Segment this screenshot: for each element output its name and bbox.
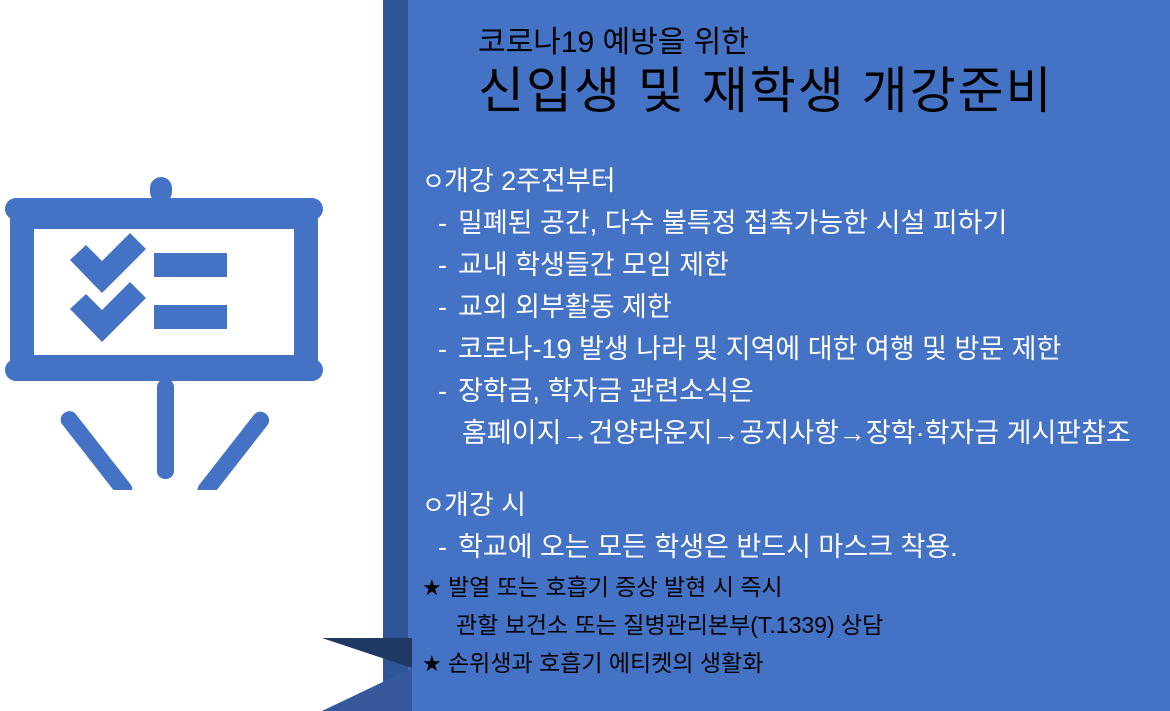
list-item-label: 학교에 오는 모든 학생은 반드시 마스크 착용. bbox=[458, 532, 958, 562]
body-content: ㅇ개강 2주전부터 -밀폐된 공간, 다수 불특정 접촉가능한 시설 피하기 -… bbox=[416, 160, 1170, 682]
list-item: -학교에 오는 모든 학생은 반드시 마스크 착용. bbox=[416, 526, 1170, 568]
dash-bullet-icon: - bbox=[438, 526, 458, 568]
left-illustration-pane bbox=[0, 0, 383, 711]
section-heading: ㅇ개강 2주전부터 bbox=[416, 160, 1170, 202]
list-item: -교외 외부활동 제한 bbox=[416, 286, 1170, 328]
slide-canvas: 코로나19 예방을 위한 신입생 및 재학생 개강준비 ㅇ개강 2주전부터 -밀… bbox=[0, 0, 1170, 711]
dash-bullet-icon: - bbox=[438, 286, 458, 328]
list-item-label: 장학금, 학자금 관련소식은 bbox=[458, 376, 754, 406]
note-item: ★손위생과 호흡기 에티켓의 생활화 bbox=[416, 644, 1170, 682]
dash-bullet-icon: - bbox=[438, 370, 458, 412]
dash-bullet-icon: - bbox=[438, 328, 458, 370]
list-item: -코로나-19 발생 나라 및 지역에 대한 여행 및 방문 제한 bbox=[416, 328, 1170, 370]
section-heading: ㅇ개강 시 bbox=[416, 484, 1170, 526]
title-block: 코로나19 예방을 위한 신입생 및 재학생 개강준비 bbox=[478, 24, 1168, 122]
section-heading-label: 개강 2주전부터 bbox=[444, 166, 616, 196]
star-bullet-icon: ★ bbox=[422, 569, 448, 607]
note-label: 손위생과 호흡기 에티켓의 생활화 bbox=[448, 650, 763, 676]
star-bullet-icon: ★ bbox=[422, 645, 448, 683]
page-title: 신입생 및 재학생 개강준비 bbox=[478, 60, 1168, 122]
list-item-label: 교외 외부활동 제한 bbox=[458, 292, 672, 322]
note-item: ★발열 또는 호흡기 증상 발현 시 즉시 bbox=[416, 568, 1170, 606]
section-heading-label: 개강 시 bbox=[444, 490, 526, 520]
list-item: -교내 학생들간 모임 제한 bbox=[416, 244, 1170, 286]
section-spacer bbox=[416, 454, 1170, 484]
title-superline: 코로나19 예방을 위한 bbox=[478, 24, 1168, 62]
dash-bullet-icon: - bbox=[438, 202, 458, 244]
note-label: 발열 또는 호흡기 증상 발현 시 즉시 bbox=[448, 574, 783, 600]
circle-bullet-icon: ㅇ bbox=[422, 485, 444, 527]
list-item: -밀폐된 공간, 다수 불특정 접촉가능한 시설 피하기 bbox=[416, 202, 1170, 244]
content-panel: 코로나19 예방을 위한 신입생 및 재학생 개강준비 ㅇ개강 2주전부터 -밀… bbox=[408, 0, 1170, 711]
dash-bullet-icon: - bbox=[438, 244, 458, 286]
note-item-continuation: 관할 보건소 또는 질병관리본부(T.1339) 상담 bbox=[416, 606, 1170, 644]
list-item-continuation: 홈페이지→건양라운지→공지사항→장학·학자금 게시판참조 bbox=[416, 412, 1170, 454]
circle-bullet-icon: ㅇ bbox=[422, 161, 444, 203]
list-item: -장학금, 학자금 관련소식은 bbox=[416, 370, 1170, 412]
list-item-label: 코로나-19 발생 나라 및 지역에 대한 여행 및 방문 제한 bbox=[458, 334, 1061, 364]
list-item-label: 교내 학생들간 모임 제한 bbox=[458, 250, 729, 280]
list-item-label: 밀폐된 공간, 다수 불특정 접촉가능한 시설 피하기 bbox=[458, 208, 1007, 238]
panel-left-edge-strip bbox=[383, 0, 408, 711]
presentation-board-checklist-icon bbox=[2, 165, 332, 490]
